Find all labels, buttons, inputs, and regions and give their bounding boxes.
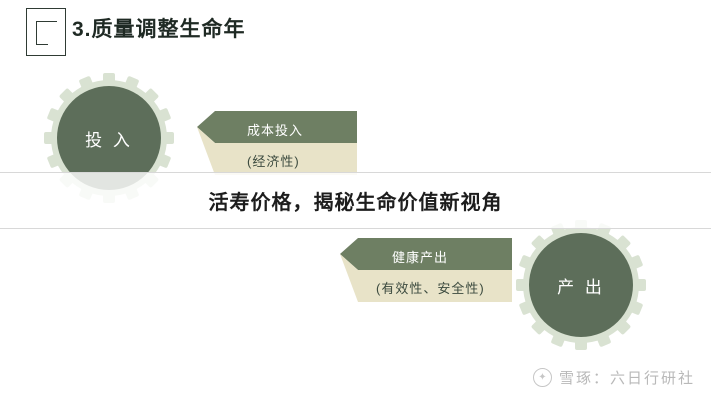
banner-health: 健康产出 (有效性、安全性) xyxy=(340,238,512,305)
node-output-label: 产 出 xyxy=(557,273,605,298)
bracket-inner-icon xyxy=(36,21,57,45)
bracket-mark-icon xyxy=(26,8,66,56)
node-input-label: 投 入 xyxy=(85,126,133,151)
bracket-notch xyxy=(48,36,59,46)
banner-health-bottom-label: (有效性、安全性) xyxy=(376,278,485,297)
attribution: ✦ 雪琢：六日行研社 xyxy=(533,367,695,388)
banner-health-top-label: 健康产出 xyxy=(392,247,448,266)
overlay-title: 活寿价格，揭秘生命价值新视角 xyxy=(0,172,711,229)
page-title: 3.质量调整生命年 xyxy=(72,13,246,43)
banner-cost-top-label: 成本投入 xyxy=(247,120,303,139)
node-output: 产 出 xyxy=(516,220,646,350)
attribution-text: 雪琢：六日行研社 xyxy=(559,367,695,388)
node-output-disc: 产 出 xyxy=(529,233,633,337)
banner-cost-bottom-label: (经济性) xyxy=(247,151,300,170)
attribution-badge-icon: ✦ xyxy=(533,368,552,387)
banner-cost: 成本投入 (经济性) xyxy=(197,111,357,178)
diagram-canvas: 3.质量调整生命年 xyxy=(0,0,711,400)
